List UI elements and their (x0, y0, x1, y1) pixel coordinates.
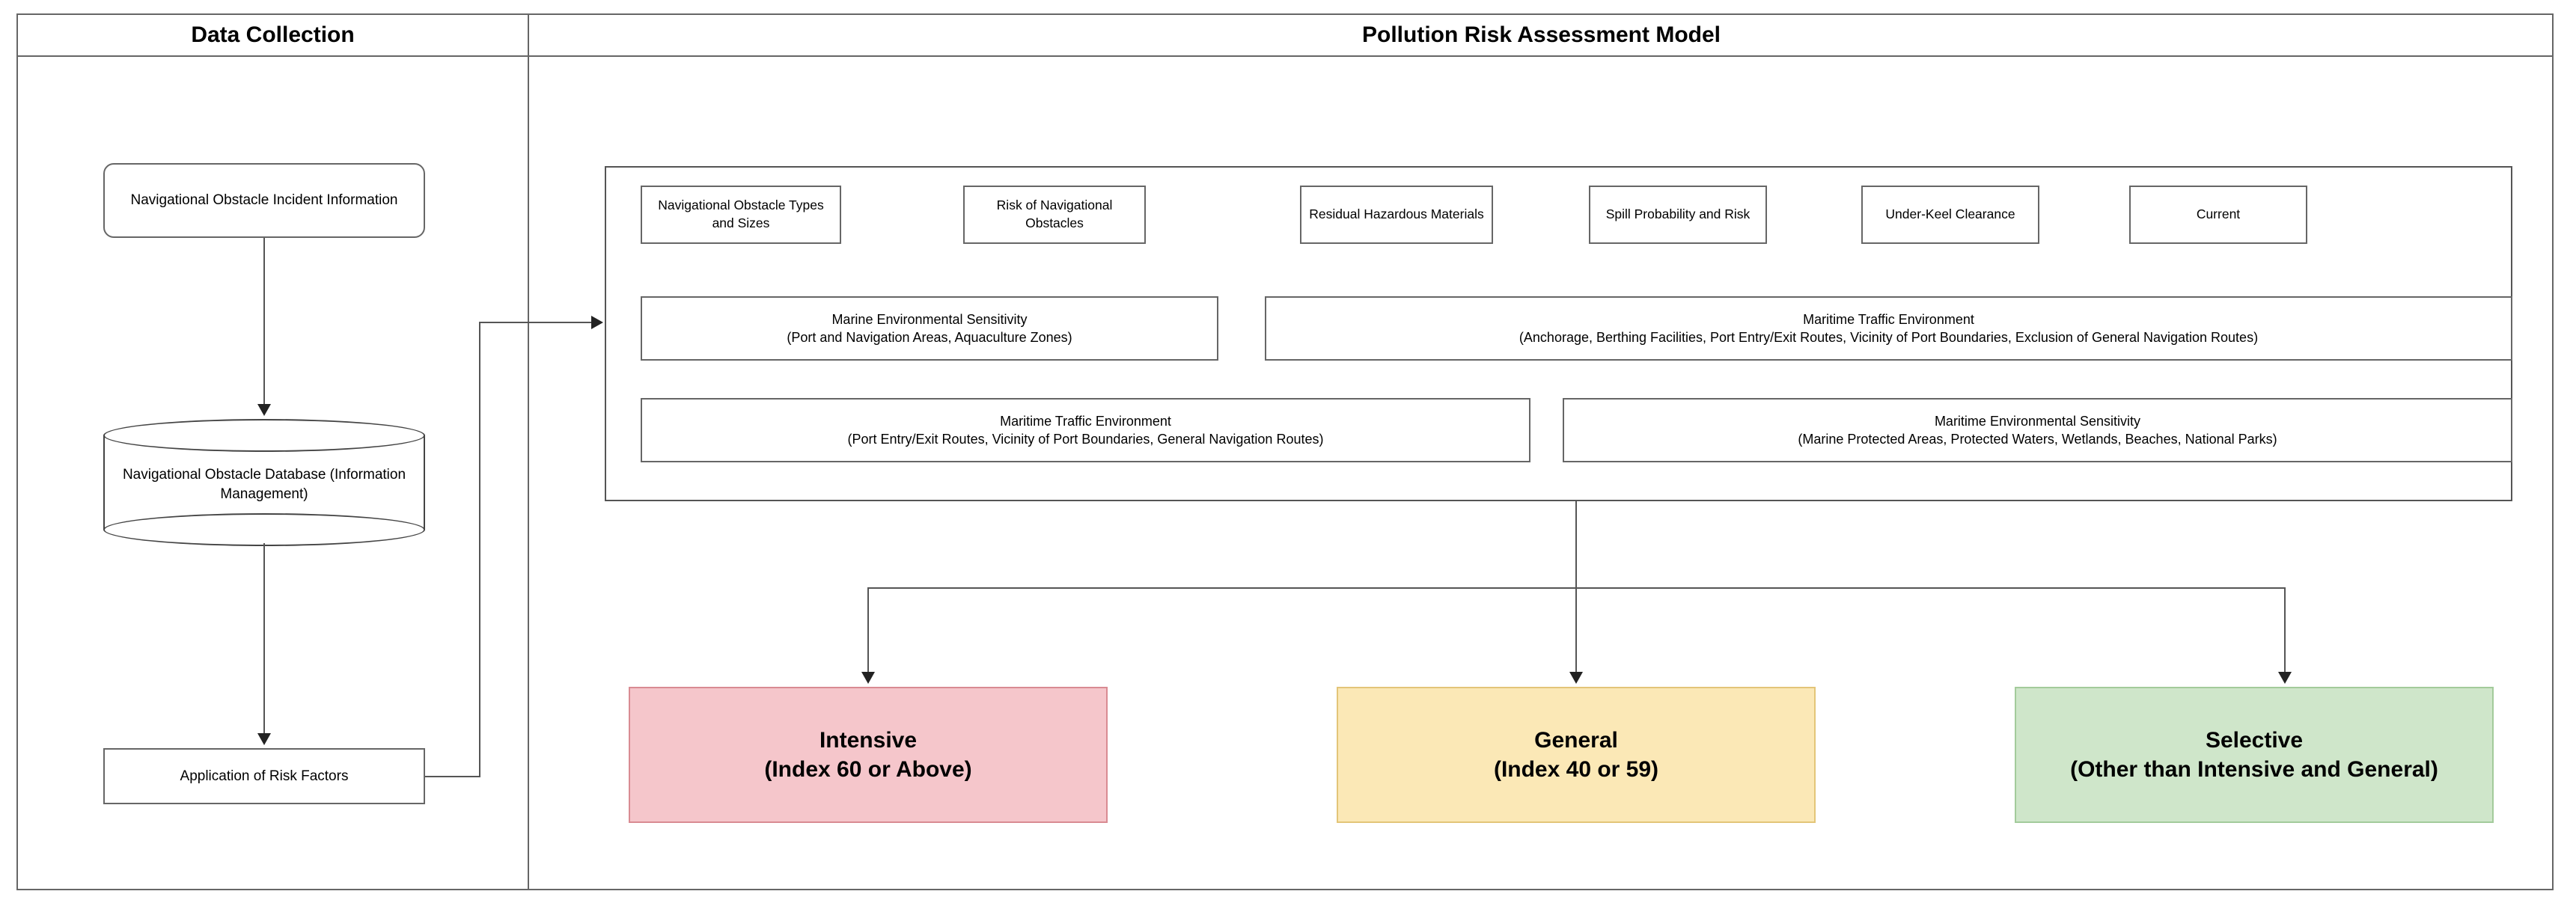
arrowhead-right-icon (591, 316, 603, 329)
outcome-selective[interactable]: Selective (Other than Intensive and Gene… (2015, 687, 2494, 823)
factor-navigational-obstacle-types-and-sizes[interactable]: Navigational Obstacle Types and Sizes (641, 186, 841, 244)
outcome-criteria: (Other than Intensive and General) (2070, 755, 2438, 784)
panel-title-pollution-risk-model: Pollution Risk Assessment Model (529, 13, 2554, 57)
connector-model-to-branch-stem (1575, 501, 1577, 588)
connector-branch-to-selective (2284, 587, 2286, 673)
factor-detail: (Marine Protected Areas, Protected Water… (1798, 430, 2277, 448)
diagram-canvas: Data Collection Pollution Risk Assessmen… (0, 0, 2576, 906)
connector-risk-factors-segment-h2 (479, 322, 591, 323)
factor-marine-environmental-sensitivity[interactable]: Marine Environmental Sensitivity (Port a… (641, 296, 1218, 361)
factor-title: Maritime Environmental Sensitivity (1798, 412, 2277, 430)
arrowhead-down-icon (257, 404, 271, 416)
outcome-general[interactable]: General (Index 40 or 59) (1337, 687, 1816, 823)
factor-risk-of-navigational-obstacles[interactable]: Risk of Navigational Obstacles (963, 186, 1146, 244)
outcome-intensive[interactable]: Intensive (Index 60 or Above) (629, 687, 1108, 823)
connector-incident-to-database (263, 238, 265, 405)
arrowhead-down-icon (2278, 672, 2292, 684)
factor-current[interactable]: Current (2129, 186, 2307, 244)
factor-title: Maritime Traffic Environment (1519, 310, 2258, 328)
factor-title: Marine Environmental Sensitivity (787, 310, 1072, 328)
connector-branch-to-intensive (867, 587, 869, 673)
factor-residual-hazardous-materials[interactable]: Residual Hazardous Materials (1300, 186, 1493, 244)
outcome-criteria: (Index 60 or Above) (764, 755, 971, 784)
outcome-name: Intensive (764, 726, 971, 755)
panel-title-data-collection: Data Collection (16, 13, 529, 57)
factor-detail: (Port Entry/Exit Routes, Vicinity of Por… (848, 430, 1324, 448)
factor-detail: (Anchorage, Berthing Facilities, Port En… (1519, 328, 2258, 346)
node-application-of-risk-factors[interactable]: Application of Risk Factors (103, 748, 425, 804)
outcome-name: General (1494, 726, 1658, 755)
database-label: Navigational Obstacle Database (Informat… (103, 447, 425, 522)
factor-spill-probability-and-risk[interactable]: Spill Probability and Risk (1589, 186, 1767, 244)
node-navigational-obstacle-incident-information[interactable]: Navigational Obstacle Incident Informati… (103, 163, 425, 238)
outcome-name: Selective (2070, 726, 2438, 755)
arrowhead-down-icon (1569, 672, 1583, 684)
outcome-criteria: (Index 40 or 59) (1494, 755, 1658, 784)
node-navigational-obstacle-database[interactable]: Navigational Obstacle Database (Informat… (103, 419, 425, 546)
connector-database-to-risk-factors (263, 543, 265, 735)
factor-maritime-traffic-environment-extended[interactable]: Maritime Traffic Environment (Anchorage,… (1265, 296, 2512, 361)
factor-detail: (Port and Navigation Areas, Aquaculture … (787, 328, 1072, 346)
column-divider (528, 13, 529, 890)
connector-branch-to-general (1575, 587, 1577, 673)
connector-risk-factors-segment-v (479, 322, 480, 777)
arrowhead-down-icon (861, 672, 875, 684)
arrowhead-down-icon (257, 733, 271, 745)
factor-maritime-environmental-sensitivity[interactable]: Maritime Environmental Sensitivity (Mari… (1563, 398, 2512, 462)
factor-title: Maritime Traffic Environment (848, 412, 1324, 430)
factor-maritime-traffic-environment[interactable]: Maritime Traffic Environment (Port Entry… (641, 398, 1530, 462)
connector-risk-factors-segment-h1 (425, 776, 480, 777)
factor-under-keel-clearance[interactable]: Under-Keel Clearance (1861, 186, 2039, 244)
